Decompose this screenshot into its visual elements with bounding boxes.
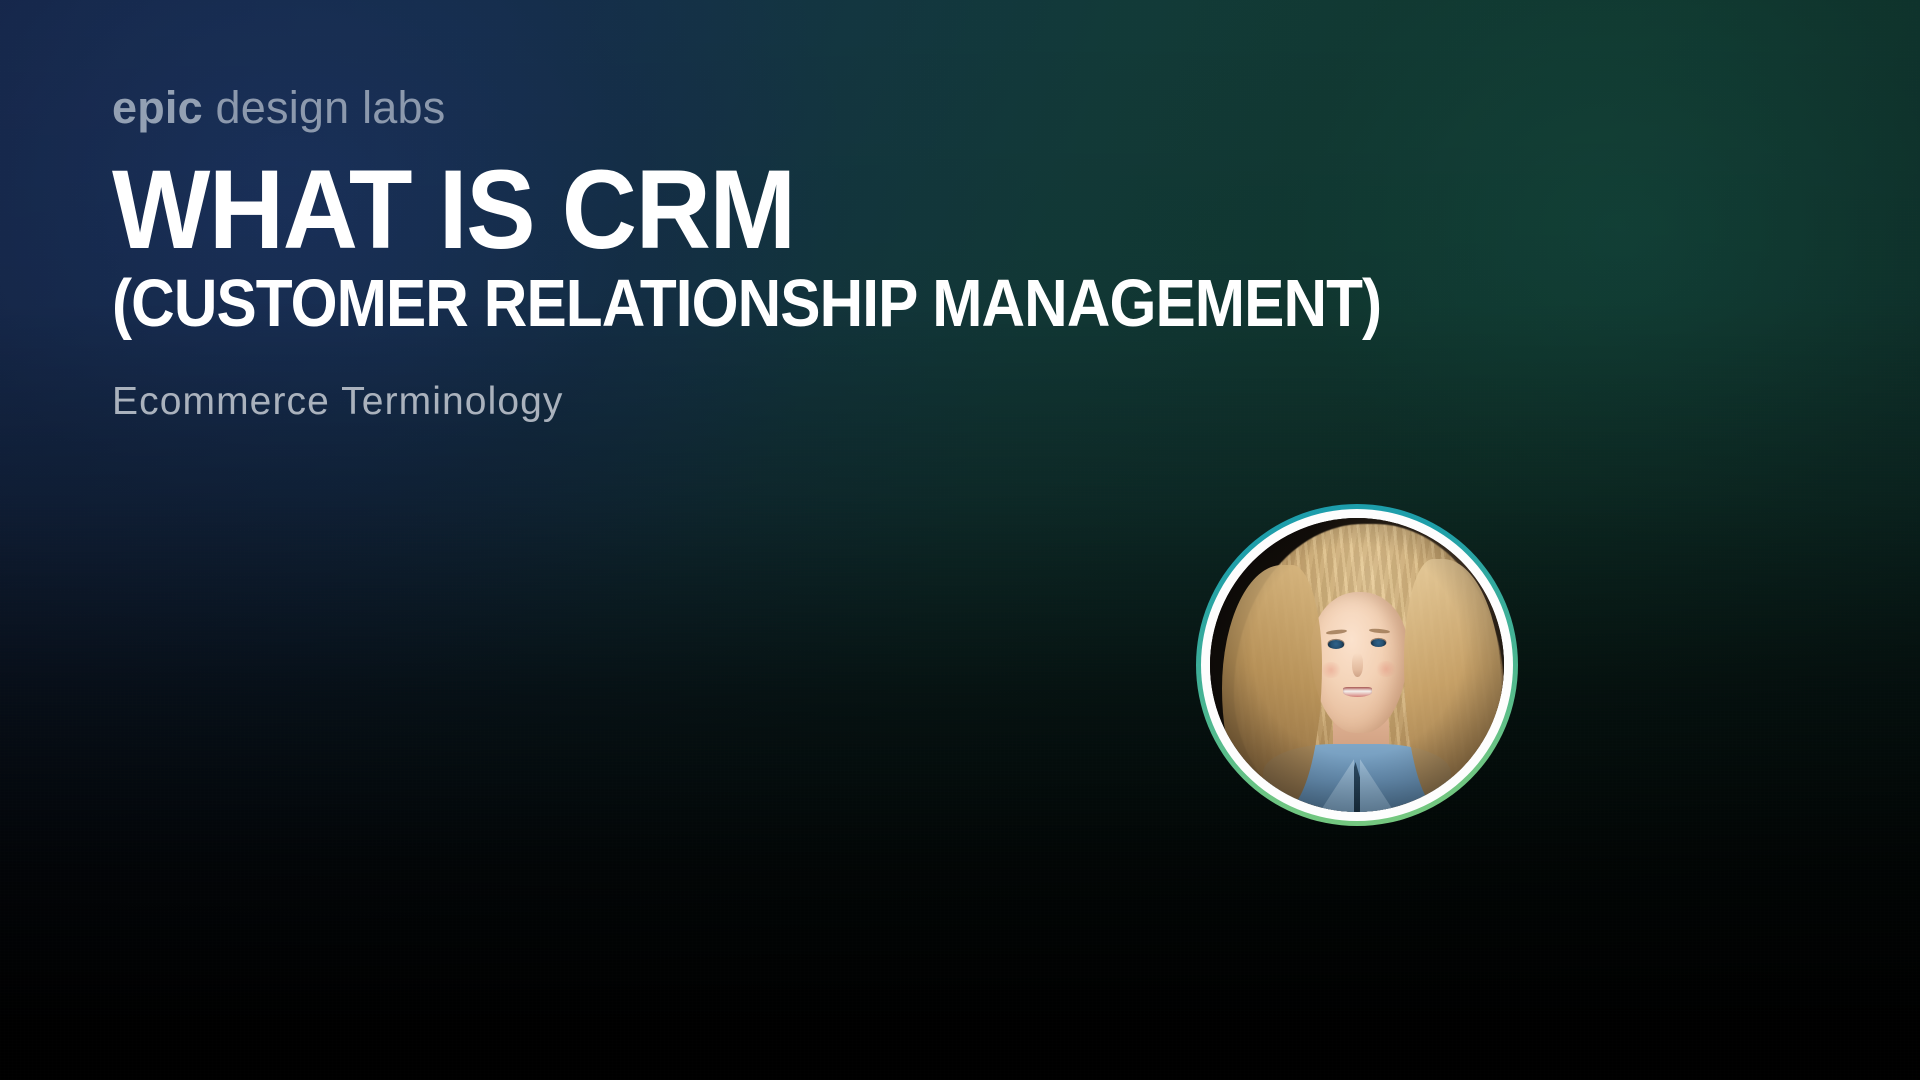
avatar-inner-ring [1201,509,1513,821]
avatar-ring [1196,504,1518,826]
portrait-vignette [1210,518,1504,812]
presentation-slide: epic design labs WHAT IS CRM (CUSTOMER R… [0,0,1920,1080]
brand-logo: epic design labs [112,84,1812,131]
slide-subtitle: (CUSTOMER RELATIONSHIP MANAGEMENT) [112,270,1642,338]
slide-tagline: Ecommerce Terminology [112,380,1812,424]
brand-name-bold: epic [112,82,203,133]
brand-name-light: design labs [203,82,446,133]
avatar [1210,518,1504,812]
slide-title: WHAT IS CRM [112,157,1693,263]
slide-content: epic design labs WHAT IS CRM (CUSTOMER R… [112,84,1812,424]
